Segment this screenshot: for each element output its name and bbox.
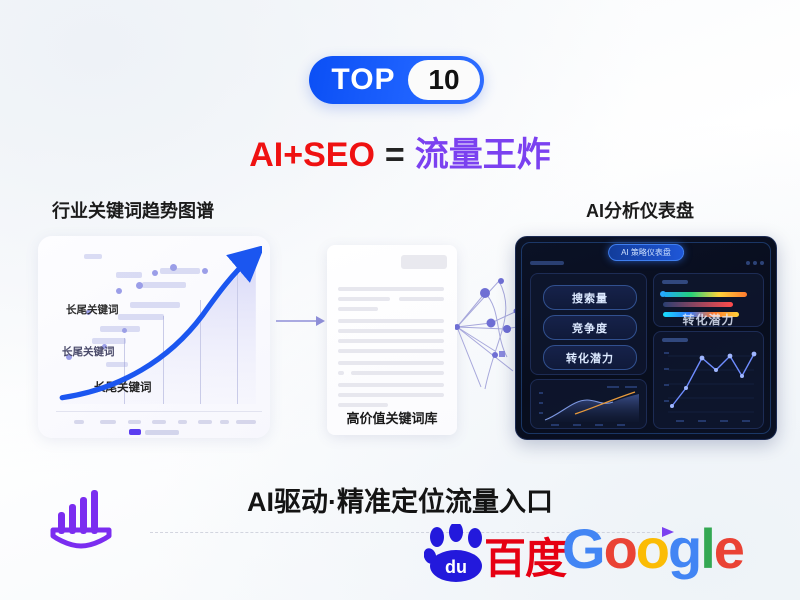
google-letter: l	[700, 517, 714, 580]
title-equals: =	[385, 136, 405, 174]
footer-slogan: AI驱动·精准定位流量入口	[0, 480, 800, 519]
metric-buttons-panel: 搜索量 竞争度 转化潜力	[530, 273, 647, 375]
title-left: AI+SEO	[249, 136, 375, 174]
keyword-library-document: 高价值关键词库	[327, 245, 457, 435]
trend-chart: 长尾关键词 长尾关键词 长尾关键词	[56, 246, 262, 404]
metric-button-conversion-potential[interactable]: 转化潜力	[543, 345, 637, 370]
window-controls[interactable]	[746, 261, 764, 265]
axis-tick	[220, 420, 229, 424]
trend-legend	[129, 429, 179, 435]
google-letter: e	[714, 517, 743, 580]
doc-header-chip	[401, 255, 447, 269]
left-section-caption: 行业关键词趋势图谱	[52, 197, 214, 223]
baidu-du-mark: du	[445, 557, 467, 577]
trend-growth-arrow	[56, 246, 262, 404]
axis-tick	[152, 420, 166, 424]
area-chart-panel	[530, 379, 647, 429]
google-letter: o	[604, 517, 636, 580]
line-chart-panel	[653, 331, 764, 429]
legend-swatch	[129, 429, 141, 435]
google-letter: g	[668, 517, 700, 580]
dashboard-area-chart	[531, 380, 646, 428]
gauge-bar	[663, 292, 747, 297]
baidu-paw-icon: du	[424, 524, 488, 584]
metric-button-competition[interactable]: 竞争度	[543, 315, 637, 340]
gauge-panel-title	[662, 280, 688, 284]
legend-label	[145, 430, 179, 435]
gauge-overlay-label: 转化潜力	[654, 311, 763, 328]
ai-dashboard-card: AI 策略仪表盘 搜索量 竞争度 转化潜力 转化潜力	[515, 236, 777, 440]
keyword-trend-card: 长尾关键词 长尾关键词 长尾关键词	[38, 236, 270, 438]
top-badge-word: TOP	[309, 63, 408, 97]
axis-tick	[100, 420, 116, 424]
dashboard-subtitle-placeholder	[530, 261, 564, 265]
gauge-panel: 转化潜力	[653, 273, 764, 327]
bar-chart-pedestal-icon	[48, 486, 114, 550]
axis-tick	[74, 420, 84, 424]
dashboard-title-badge: AI 策略仪表盘	[608, 244, 684, 261]
axis-tick	[198, 420, 212, 424]
google-letter: G	[562, 517, 604, 580]
slide-canvas: TOP 10 AI+SEO=流量王炸 行业关键词趋势图谱 AI分析仪表盘	[0, 0, 800, 600]
axis-tick	[128, 420, 141, 424]
page-title: AI+SEO=流量王炸	[0, 127, 800, 176]
axis-tick	[178, 420, 187, 424]
axis-tick	[236, 420, 256, 424]
metric-button-search-volume[interactable]: 搜索量	[543, 285, 637, 310]
doc-caption: 高价值关键词库	[327, 408, 457, 427]
top-badge-number: 10	[408, 60, 480, 100]
baidu-wordmark: 百度	[484, 538, 566, 580]
gauge-bar	[663, 302, 733, 307]
top-rank-badge: TOP 10	[309, 56, 484, 104]
flow-arrow-right	[276, 315, 326, 327]
right-section-caption: AI分析仪表盘	[586, 197, 694, 223]
google-letter: o	[636, 517, 668, 580]
google-logo: Google	[562, 521, 743, 577]
trend-x-axis	[56, 411, 262, 412]
dashboard-line-chart	[654, 332, 763, 428]
title-right: 流量王炸	[415, 136, 551, 174]
baidu-logo: du 百度	[424, 524, 566, 584]
